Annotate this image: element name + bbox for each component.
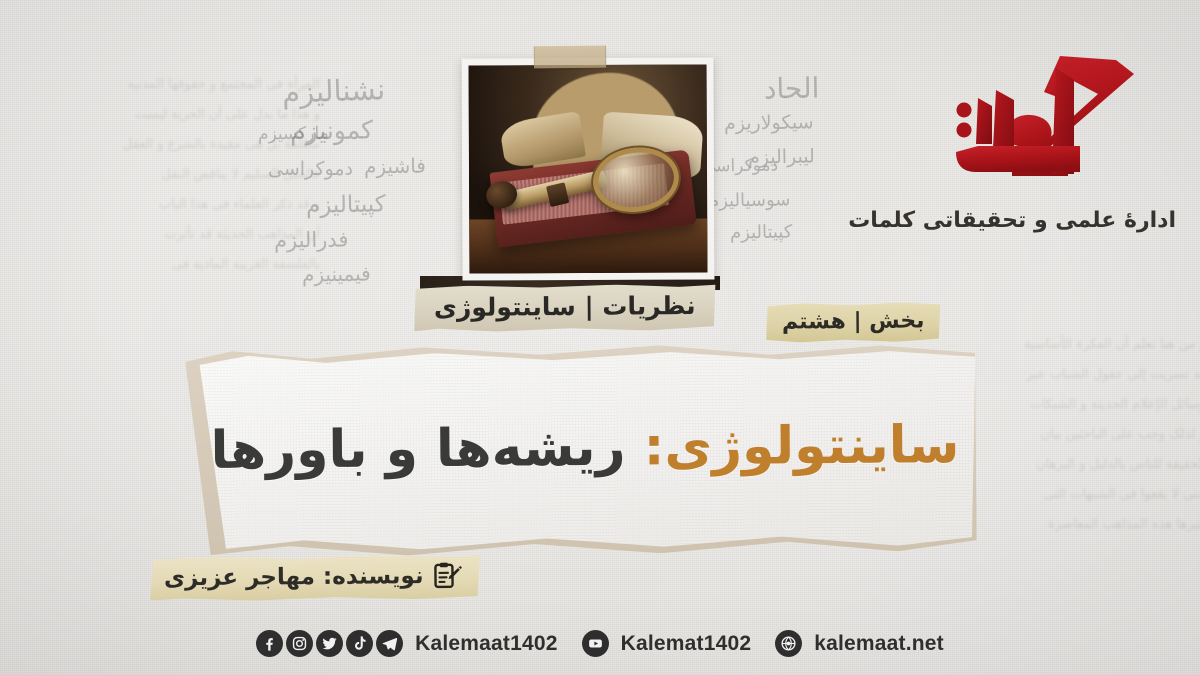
ghost-keywords-right: الحادسیکولاریزملیبرالیزمدموکراسیسوسیالیز… [716, 72, 896, 292]
ghost-keyword: کپیتالیزم [730, 221, 793, 243]
telegram-icon[interactable] [376, 630, 403, 657]
brand-logo-block: ادارۀ علمی و تحقیقاتی کلمات [920, 48, 1176, 233]
page-title-rest: ریشه‌ها و باورها [210, 418, 625, 481]
youtube-icon[interactable] [582, 630, 609, 657]
social-footer-bar: Kalemaat1402Kalemat1402kalemaat.net [0, 630, 1200, 657]
social-handle[interactable]: kalemaat.net [814, 632, 944, 656]
feature-photo-card [462, 57, 715, 280]
social-icon-row [775, 630, 805, 657]
twitter-icon[interactable] [316, 630, 343, 657]
tiktok-icon[interactable] [346, 630, 373, 657]
background-script-line: المرأة فی المجتمع و حقوقها المدنیة [0, 70, 320, 100]
ghost-keyword: فاشیزم [364, 153, 426, 178]
social-account-group: kalemaat.net [775, 630, 944, 657]
kalemaat-logo-icon [948, 48, 1148, 198]
social-account-group: Kalemat1402 [582, 630, 776, 657]
social-handle[interactable]: Kalemaat1402 [415, 632, 558, 656]
social-handle[interactable]: Kalemat1402 [621, 632, 752, 656]
author-label: نویسنده: مهاجر عزیزی [164, 563, 424, 591]
ghost-keyword: الحاد [764, 72, 820, 106]
website-icon[interactable] [775, 630, 802, 657]
category-tag: نظریات | ساینتولوژی [414, 284, 716, 332]
background-script-line: فالعقل السلیم لا یناقض النقل [0, 160, 320, 190]
social-account-group: Kalemaat1402 [256, 630, 582, 657]
background-script-line: و هذا ما یدل على أن الحریة لیست [0, 100, 320, 130]
poster-canvas: المرأة فی المجتمع و حقوقها المدنیةو هذا … [0, 0, 1200, 675]
brand-tagline: ادارۀ علمی و تحقیقاتی کلمات [920, 208, 1176, 233]
feature-photo-image [469, 64, 708, 273]
ghost-keyword: سوسیالیزم [708, 189, 791, 211]
page-title: ساینتولوژی: ریشه‌ها و باورها [194, 415, 976, 482]
instagram-icon[interactable] [286, 630, 313, 657]
social-icon-row [582, 630, 612, 657]
background-script-line: و قد ذکر العلماء فی هذا الباب [0, 190, 320, 220]
photo-magnifier-collar [546, 182, 569, 207]
facebook-icon[interactable] [256, 630, 283, 657]
note-pencil-icon [432, 562, 462, 590]
tape-strip-icon [534, 46, 606, 69]
ghost-keyword: لیبرالیزم [748, 145, 815, 168]
author-strip: نویسنده: مهاجر عزیزی [150, 555, 481, 602]
social-icon-row [256, 630, 406, 657]
background-script-left: المرأة فی المجتمع و حقوقها المدنیةو هذا … [0, 70, 320, 280]
page-title-accent: ساینتولوژی: [643, 415, 959, 477]
background-script-line: بالفلسفة الغربیة المادیة فی [0, 250, 320, 280]
background-script-line: أن المذاهب الحدیثة قد تأثرت [0, 220, 320, 250]
ghost-keyword: سیکولاریزم [724, 111, 814, 135]
background-script-line: مطلقة بل هی مقیدة بالشرع و العقل [0, 130, 320, 160]
part-badge: بخش | هشتم [766, 302, 941, 342]
